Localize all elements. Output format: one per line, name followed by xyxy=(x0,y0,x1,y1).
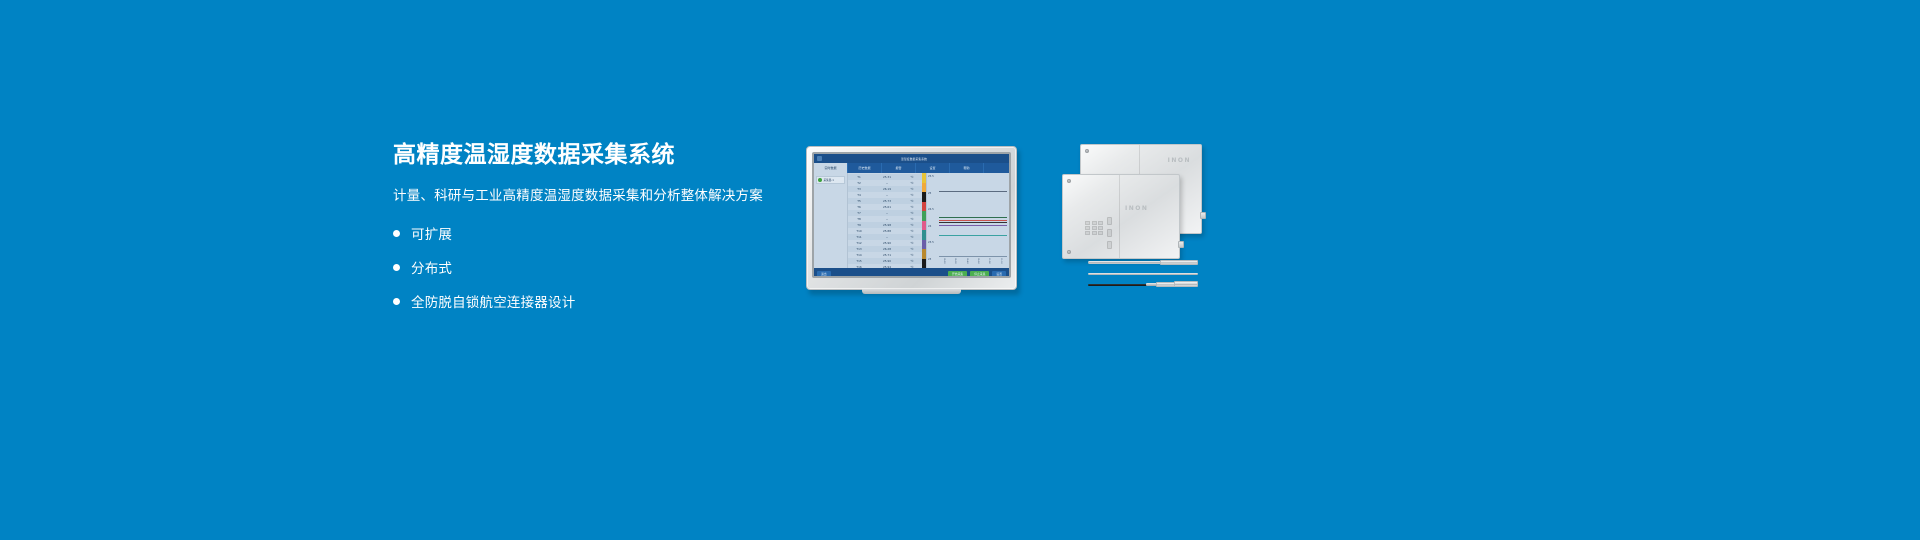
cell-value: 25.61 xyxy=(870,205,904,209)
cell-value: 25.98 xyxy=(870,223,904,227)
series-line xyxy=(939,217,1007,218)
y-tick-label: 23 xyxy=(928,258,934,261)
cell-value: 26.28 xyxy=(870,247,904,251)
stop-acquisition-button[interactable]: 停止采集 xyxy=(970,271,989,277)
cell-value: -- xyxy=(870,235,904,239)
cell-unit: ℃ xyxy=(904,175,920,179)
cell-value: -- xyxy=(870,217,904,221)
probe-2 xyxy=(1088,270,1198,276)
bullet-dot-icon xyxy=(393,298,400,305)
brand-label: INON xyxy=(1168,157,1191,164)
feature-label: 分布式 xyxy=(411,257,452,277)
monitor-foot xyxy=(862,289,961,294)
cell-value: 25.88 xyxy=(870,229,904,233)
tab-settings[interactable]: 设置 xyxy=(916,163,950,173)
device-node-label: 采集器-1 xyxy=(824,178,834,182)
cell-unit: ℃ xyxy=(904,181,920,185)
cell-channel: T1 xyxy=(848,175,870,179)
series-line xyxy=(939,222,1007,223)
chart-x-axis: 10:2010:3010:4010:5011:0011:10 xyxy=(939,256,1007,267)
cell-unit: ℃ xyxy=(904,235,920,239)
y-tick-label: 24.5 xyxy=(928,208,934,211)
cell-unit: ℃ xyxy=(904,247,920,251)
x-tick-label: 10:30 xyxy=(955,258,958,267)
list-item: 全防脱自锁航空连接器设计 xyxy=(393,291,813,311)
cell-unit: ℃ xyxy=(904,199,920,203)
channel-table: T125.31℃T2--℃T326.19℃T4--℃T525.73℃T625.6… xyxy=(848,173,922,268)
cell-unit: ℃ xyxy=(904,193,920,197)
cell-unit: ℃ xyxy=(904,223,920,227)
cell-channel: T12 xyxy=(848,241,870,245)
y-tick-label: 24 xyxy=(928,225,934,228)
cell-channel: T13 xyxy=(848,247,870,251)
settings-button[interactable]: 设置 xyxy=(992,271,1006,277)
cell-value: 25.94 xyxy=(870,265,904,269)
cell-channel: T7 xyxy=(848,211,870,215)
cell-unit: ℃ xyxy=(904,217,920,221)
module-group-image: INON INON xyxy=(1062,144,1202,259)
y-tick-label: 25.5 xyxy=(928,175,934,178)
cell-channel: T6 xyxy=(848,205,870,209)
chart-plot-area xyxy=(939,175,1007,256)
probe-3 xyxy=(1088,281,1198,287)
tab-alarm[interactable]: 报警 xyxy=(882,163,916,173)
x-tick-label: 10:20 xyxy=(943,258,946,267)
series-line xyxy=(939,191,1007,192)
page-subtitle: 计量、科研与工业高精度温湿度数据采集和分析整体解决方案 xyxy=(393,187,813,206)
page-title: 高精度温湿度数据采集系统 xyxy=(393,142,813,170)
monitor-inner-frame: 温湿度数据采集系统 实时数据 历史数据 报警 设置 帮助 采集器-1 xyxy=(812,152,1011,278)
y-tick-label: 23.5 xyxy=(928,241,934,244)
cell-channel: T4 xyxy=(848,193,870,197)
monitor-screen: 温湿度数据采集系统 实时数据 历史数据 报警 设置 帮助 采集器-1 xyxy=(814,154,1009,276)
chart-y-axis: 25.52524.52423.523 xyxy=(928,175,934,261)
cell-unit: ℃ xyxy=(904,259,920,263)
product-banner: 高精度温湿度数据采集系统 计量、科研与工业高精度温湿度数据采集和分析整体解决方案… xyxy=(0,0,1920,540)
series-line xyxy=(939,235,1007,236)
cell-value: 25.31 xyxy=(870,175,904,179)
cell-channel: T9 xyxy=(848,223,870,227)
cell-channel: T2 xyxy=(848,181,870,185)
cell-unit: ℃ xyxy=(904,205,920,209)
series-line xyxy=(939,220,1007,221)
tab-help[interactable]: 帮助 xyxy=(950,163,984,173)
brand-label: INON xyxy=(1125,205,1148,212)
screen-app-title: 温湿度数据采集系统 xyxy=(831,157,997,161)
bullet-dot-icon xyxy=(393,230,400,237)
list-item: 分布式 xyxy=(393,257,813,277)
cell-channel: T8 xyxy=(848,217,870,221)
banner-copy: 高精度温湿度数据采集系统 计量、科研与工业高精度温湿度数据采集和分析整体解决方案… xyxy=(393,142,813,325)
cell-value: 25.90 xyxy=(870,241,904,245)
screen-tabbar: 实时数据 历史数据 报警 设置 帮助 xyxy=(814,163,1009,173)
cell-channel: T3 xyxy=(848,187,870,191)
series-line xyxy=(939,225,1007,226)
cell-value: -- xyxy=(870,181,904,185)
probe-1 xyxy=(1088,259,1198,265)
device-node-item[interactable]: 采集器-1 xyxy=(816,176,845,184)
x-tick-label: 10:50 xyxy=(977,258,980,267)
cell-unit: ℃ xyxy=(904,253,920,257)
exit-button[interactable]: 退出 xyxy=(817,271,831,277)
cell-unit: ℃ xyxy=(904,211,920,215)
feature-list: 可扩展 分布式 全防脱自锁航空连接器设计 xyxy=(393,223,813,311)
screen-body: 采集器-1 T125.31℃T2--℃T326.19℃T4--℃T525.73℃… xyxy=(814,173,1009,268)
x-tick-label: 10:40 xyxy=(966,258,969,267)
cell-channel: T11 xyxy=(848,235,870,239)
cell-value: -- xyxy=(870,211,904,215)
y-tick-label: 25 xyxy=(928,192,934,195)
panel-pc-image: 温湿度数据采集系统 实时数据 历史数据 报警 设置 帮助 采集器-1 xyxy=(806,146,1019,293)
cell-unit: ℃ xyxy=(904,229,920,233)
screen-titlebar: 温湿度数据采集系统 xyxy=(814,154,1009,163)
trend-chart: 25.52524.52423.523 10:2010:3010:4010:501… xyxy=(926,173,1009,268)
cell-channel: T5 xyxy=(848,199,870,203)
back-arrow-icon[interactable] xyxy=(817,156,822,161)
status-dot-icon xyxy=(818,178,822,182)
start-acquisition-button[interactable]: 开始采集 xyxy=(948,271,967,277)
cell-channel: T16 xyxy=(848,265,870,269)
feature-label: 可扩展 xyxy=(411,223,452,243)
cell-value: 25.73 xyxy=(870,199,904,203)
cell-unit: ℃ xyxy=(904,265,920,269)
cell-value: 25.90 xyxy=(870,259,904,263)
tab-realtime[interactable]: 实时数据 xyxy=(814,163,848,173)
cell-value: 26.19 xyxy=(870,187,904,191)
cell-channel: T14 xyxy=(848,253,870,257)
tab-history[interactable]: 历史数据 xyxy=(848,163,882,173)
x-tick-label: 11:00 xyxy=(989,258,992,267)
cell-channel: T15 xyxy=(848,259,870,263)
cell-unit: ℃ xyxy=(904,241,920,245)
feature-label: 全防脱自锁航空连接器设计 xyxy=(411,291,575,311)
cell-value: -- xyxy=(870,193,904,197)
screen-device-tree: 采集器-1 xyxy=(814,173,848,268)
list-item: 可扩展 xyxy=(393,223,813,243)
table-row[interactable]: T1625.94℃ xyxy=(848,264,922,270)
acquisition-module-front: INON xyxy=(1062,174,1180,259)
cell-value: 25.71 xyxy=(870,253,904,257)
cell-channel: T10 xyxy=(848,229,870,233)
bullet-dot-icon xyxy=(393,264,400,271)
cell-unit: ℃ xyxy=(904,187,920,191)
x-tick-label: 11:10 xyxy=(1000,258,1003,267)
